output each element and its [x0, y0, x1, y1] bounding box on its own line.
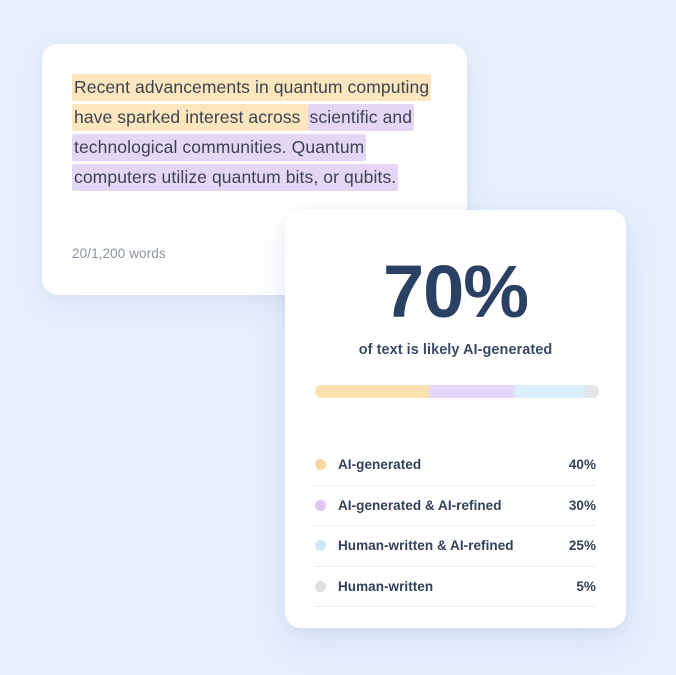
legend-dot-icon: [315, 581, 326, 592]
legend-row[interactable]: AI-generated40%: [315, 445, 596, 486]
results-card: 70% of text is likely AI-generated AI-ge…: [285, 210, 626, 628]
legend-row[interactable]: Human-written & AI-refined25%: [315, 526, 596, 567]
legend-percentage: 25%: [569, 538, 596, 553]
legend-dot-icon: [315, 459, 326, 470]
word-count-label: 20/1,200 words: [72, 246, 166, 261]
legend-dot-icon: [315, 500, 326, 511]
app-canvas: Recent advancements in quantum computing…: [0, 0, 676, 675]
ai-score-caption: of text is likely AI-generated: [315, 342, 596, 358]
composition-bar: [315, 385, 599, 398]
legend-label: AI-generated & AI-refined: [338, 498, 569, 513]
legend-percentage: 5%: [576, 579, 596, 594]
legend-row[interactable]: AI-generated & AI-refined30%: [315, 486, 596, 527]
legend-percentage: 30%: [569, 498, 596, 513]
legend-row[interactable]: Human-written5%: [315, 567, 596, 608]
legend-label: Human-written & AI-refined: [338, 538, 569, 553]
editor-text-area[interactable]: Recent advancements in quantum computing…: [42, 72, 467, 192]
composition-bar-segment: [315, 385, 429, 398]
composition-bar-segment: [585, 385, 599, 398]
composition-bar-segment: [429, 385, 514, 398]
composition-legend: AI-generated40%AI-generated & AI-refined…: [315, 445, 596, 607]
ai-score-percentage: 70%: [315, 258, 596, 326]
legend-dot-icon: [315, 540, 326, 551]
composition-bar-segment: [514, 385, 585, 398]
legend-label: AI-generated: [338, 457, 569, 472]
legend-percentage: 40%: [569, 457, 596, 472]
legend-label: Human-written: [338, 579, 576, 594]
